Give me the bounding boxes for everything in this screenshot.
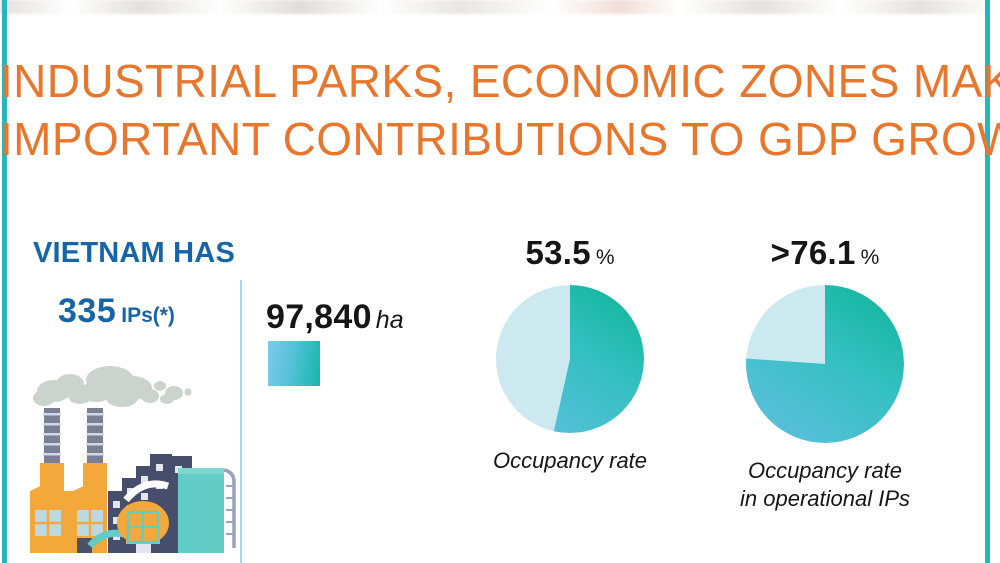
storage-tank-icon (178, 468, 235, 553)
infographic-canvas: INDUSTRIAL PARKS, ECONOMIC ZONES MAKE IM… (0, 0, 1000, 563)
pie-1-percent-symbol: % (596, 246, 615, 269)
pie-chart-occupancy-rate: 53.5% Occupancy rate (440, 236, 700, 475)
page-title: INDUSTRIAL PARKS, ECONOMIC ZONES MAKE IM… (0, 52, 1000, 168)
pie-2-occupied-slice (746, 285, 904, 443)
vietnam-has-heading: VIETNAM HAS (33, 237, 235, 270)
smokestack-icon (43, 408, 104, 463)
pie-2-value: >76.1 (771, 234, 856, 271)
pie-chart-1-body: 53.5% Occupancy rate (440, 236, 700, 475)
pie-2-caption: Occupancy rate in operational IPs (690, 457, 960, 513)
pie-2-graphic (746, 285, 904, 443)
area-color-swatch (268, 341, 320, 386)
smoke-cloud-icon (33, 366, 192, 407)
pie-2-disc (746, 285, 904, 443)
pie-1-value: 53.5 (525, 234, 590, 271)
pie-1-disc (496, 285, 644, 433)
title-line-1: INDUSTRIAL PARKS, ECONOMIC ZONES MAKE (0, 52, 1000, 110)
column-divider (240, 280, 242, 563)
title-line-2: IMPORTANT CONTRIBUTIONS TO GDP GROWTH (0, 110, 1000, 168)
pie-chart-operational-occupancy-rate: >76.1% Occupancy rate in operational IPs (690, 236, 960, 513)
pie-1-occupied-slice (496, 285, 644, 433)
pie-chart-2-body: >76.1% Occupancy rate in operational IPs (690, 236, 960, 513)
area-unit: ha (376, 306, 404, 334)
area-value: 97,840 (266, 298, 372, 336)
factory-illustration (14, 358, 239, 563)
area-stat: 97,840ha (266, 298, 404, 337)
pie-1-graphic (496, 285, 644, 433)
top-paper-texture (0, 0, 1000, 14)
ip-count-stat: 335IPs(*) (58, 292, 175, 331)
pie-1-caption: Occupancy rate (440, 447, 700, 475)
pie-2-value-label: >76.1% (690, 236, 960, 277)
pie-2-percent-symbol: % (861, 246, 880, 269)
ip-count-unit: IPs(*) (121, 304, 175, 327)
ip-count-value: 335 (58, 292, 116, 330)
pie-1-value-label: 53.5% (440, 236, 700, 277)
